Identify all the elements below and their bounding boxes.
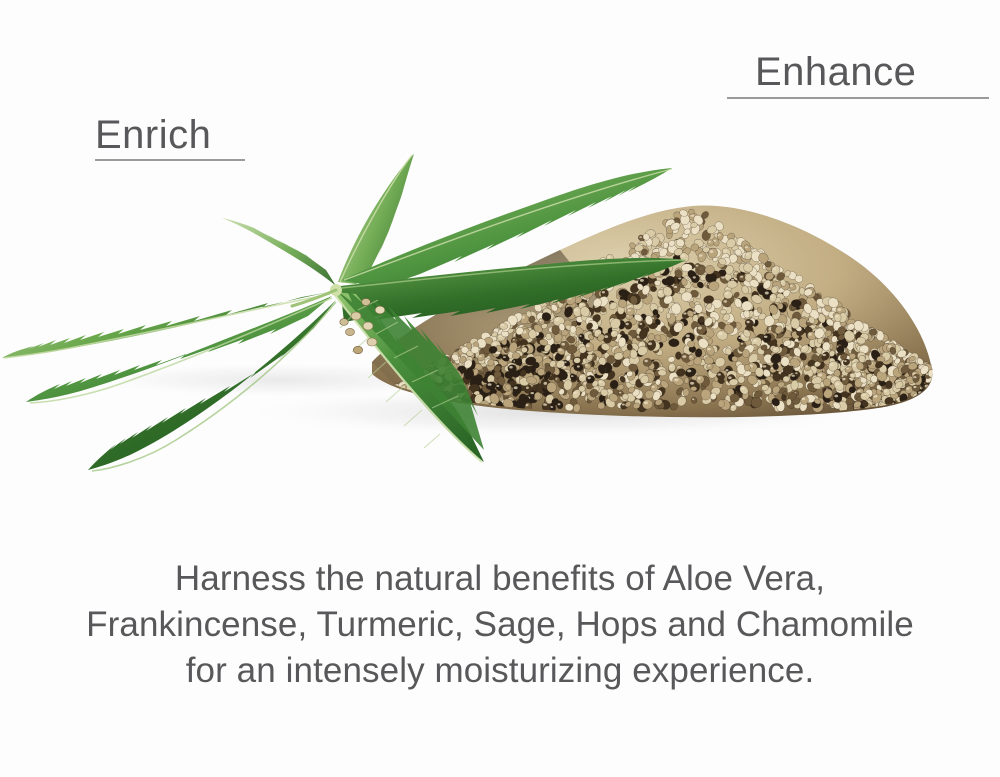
caption-line-1: Harness the natural benefits of Aloe Ver… (0, 556, 1000, 602)
hemp-seed-highlight (509, 366, 512, 369)
hemp-seed-highlight (580, 376, 583, 378)
heading-enrich: Enrich (95, 115, 211, 155)
hemp-seed (929, 403, 935, 409)
hemp-seed (919, 393, 933, 407)
hemp-seed (781, 357, 790, 367)
hemp-seed (813, 383, 821, 389)
hemp-seed-highlight (571, 375, 574, 377)
hemp-seed (924, 404, 931, 410)
hemp-seed-highlight (644, 401, 648, 404)
hemp-seed-highlight (670, 374, 674, 377)
hemp-seed (795, 275, 803, 282)
hemp-seed-highlight (681, 254, 685, 257)
hemp-seed-highlight (682, 355, 686, 358)
hemp-seed-highlight (851, 374, 853, 376)
hemp-seed-highlight (830, 312, 833, 314)
hemp-seed-highlight (498, 335, 501, 337)
hemp-seed-highlight (823, 344, 826, 347)
hemp-seed-highlight (723, 250, 727, 253)
hemp-seed-highlight (667, 221, 671, 224)
hemp-seed-highlight (830, 363, 834, 366)
hemp-seed (908, 400, 915, 408)
hemp-seed-highlight (675, 324, 679, 327)
caption-line-3: for an intensely moisturizing experience… (0, 648, 1000, 694)
hemp-illustration (0, 150, 1000, 530)
hemp-seed (929, 400, 938, 409)
hemp-seed-highlight (862, 394, 865, 396)
hemp-seed-highlight (560, 390, 562, 392)
hemp-seed-highlight (809, 333, 812, 336)
hemp-seed-highlight (728, 376, 732, 379)
hemp-seed-highlight (674, 286, 678, 288)
hemp-seed-highlight (687, 370, 691, 373)
hemp-seed (652, 309, 658, 316)
hemp-seed-highlight (626, 323, 629, 325)
hemp-seed-highlight (653, 393, 657, 395)
hemp-seed-highlight (492, 342, 496, 345)
hemp-seed-highlight (595, 331, 598, 333)
hemp-seed (499, 323, 508, 330)
hemp-seed (574, 357, 581, 363)
hemp-seed (920, 392, 933, 403)
hemp-seed-highlight (763, 365, 767, 367)
hemp-seed-highlight (741, 388, 745, 390)
hemp-seed-highlight (665, 297, 669, 300)
hemp-seed (557, 402, 563, 409)
hemp-seed (925, 398, 938, 410)
hemp-seed-highlight (708, 241, 711, 243)
hemp-seed (915, 397, 923, 404)
hemp-seed-highlight (844, 360, 847, 362)
hemp-seed-highlight (619, 340, 623, 342)
hemp-seed-highlight (696, 265, 699, 267)
hemp-seed-highlight (558, 349, 561, 351)
hemp-seed (707, 240, 714, 247)
hemp-seed-highlight (754, 311, 757, 313)
hemp-seed-highlight (740, 276, 743, 278)
hemp-seed (668, 363, 675, 372)
hemp-seed-highlight (795, 372, 797, 374)
hemp-seed-highlight (690, 215, 694, 217)
hemp-seed (850, 373, 856, 378)
hemp-seed (905, 401, 917, 412)
hemp-seed-highlight (772, 268, 776, 271)
hemp-seed-highlight (660, 250, 664, 252)
hemp-seed-highlight (640, 279, 644, 282)
hemp-seed-highlight (834, 395, 838, 398)
hemp-seed-highlight (638, 285, 641, 287)
hemp-seed-highlight (818, 309, 820, 311)
hemp-seed-highlight (559, 325, 562, 327)
hemp-seed-highlight (693, 276, 696, 278)
hemp-seed (917, 396, 926, 403)
hemp-seed-highlight (648, 342, 652, 345)
hemp-seed-highlight (838, 308, 842, 311)
hemp-seed (668, 339, 679, 347)
hemp-seed-highlight (842, 378, 845, 380)
hemp-seed-highlight (555, 318, 559, 321)
hemp-seed (512, 352, 520, 359)
hemp-seed-highlight (685, 230, 688, 232)
hemp-seed-highlight (855, 323, 859, 326)
hemp-seed-highlight (567, 405, 570, 407)
hemp-seed (919, 399, 929, 408)
hemp-seed-highlight (802, 398, 805, 400)
hemp-seed-highlight (544, 382, 548, 385)
hemp-seed-highlight (894, 405, 898, 408)
hemp-seed (901, 402, 912, 412)
hemp-seed (928, 391, 938, 399)
hemp-seed-highlight (835, 383, 839, 386)
hemp-seed-highlight (488, 383, 492, 386)
hemp-seed-highlight (710, 250, 714, 253)
hemp-seed-highlight (571, 327, 574, 329)
hemp-seed-highlight (585, 364, 588, 366)
hemp-seed-highlight (895, 359, 897, 361)
hemp-seed-highlight (906, 387, 909, 389)
hemp-seed-highlight (699, 254, 703, 257)
hemp-seed-highlight (746, 253, 749, 255)
hemp-seed (842, 376, 849, 385)
hemp-seed (777, 303, 783, 310)
hemp-seed-highlight (924, 392, 928, 395)
hemp-seed-highlight (718, 234, 721, 236)
hemp-seed-highlight (735, 301, 739, 303)
caption-line-2: Frankincense, Turmeric, Sage, Hops and C… (0, 602, 1000, 648)
hemp-seed-highlight (558, 403, 561, 405)
hemp-seed-highlight (561, 343, 565, 346)
hemp-seed-highlight (690, 382, 694, 385)
hemp-seed-highlight (726, 287, 729, 289)
hemp-seed-highlight (593, 370, 595, 371)
hemp-seed-highlight (913, 376, 916, 378)
hemp-seed-highlight (622, 404, 625, 406)
hemp-seed-highlight (588, 377, 591, 379)
hemp-seed-highlight (639, 323, 642, 325)
hemp-seed-highlight (678, 366, 680, 368)
hemp-seed-highlight (764, 336, 768, 338)
hemp-seed-highlight (818, 374, 822, 377)
hemp-seed (643, 358, 652, 366)
hemp-seed-highlight (674, 379, 678, 382)
hemp-seed-highlight (832, 308, 835, 310)
promo-graphic-canvas: Enrich Enhance (0, 0, 1000, 777)
hemp-seed-highlight (639, 236, 642, 238)
heading-enhance-underline (727, 97, 989, 99)
hemp-seed-highlight (577, 365, 580, 367)
hemp-seed-highlight (805, 366, 808, 368)
hemp-seed-highlight (822, 354, 826, 356)
hemp-seed (622, 394, 628, 400)
hemp-seed-highlight (785, 341, 788, 343)
hemp-seed-highlight (573, 392, 577, 394)
hemp-seed (675, 352, 681, 360)
hemp-seed-highlight (731, 406, 734, 408)
hemp-seed-highlight (707, 348, 711, 350)
hemp-seed-highlight (834, 323, 838, 326)
hemp-seed-highlight (753, 339, 757, 342)
hemp-seed-highlight (765, 292, 769, 295)
hemp-seed-highlight (857, 390, 860, 392)
hemp-seed-highlight (644, 235, 647, 237)
hemp-seed-highlight (916, 399, 919, 401)
hemp-seed-highlight (514, 386, 518, 389)
hemp-seed-highlight (899, 351, 902, 353)
hemp-seed-highlight (746, 321, 749, 323)
hemp-seed-highlight (718, 332, 722, 335)
hemp-seed-highlight (692, 398, 694, 400)
hemp-seed-highlight (645, 360, 648, 363)
hemp-seed-highlight (861, 378, 864, 380)
hemp-seed-highlight (555, 378, 557, 380)
hemp-seed-highlight (651, 386, 654, 388)
hemp-seed-highlight (884, 390, 887, 392)
hemp-seed-highlight (718, 373, 721, 375)
hemp-seed-highlight (734, 273, 737, 275)
hemp-seed-highlight (770, 296, 773, 298)
hemp-seed-highlight (501, 324, 504, 326)
hemp-seed-highlight (658, 291, 661, 294)
hemp-seed-highlight (888, 345, 892, 348)
hemp-seed (859, 355, 866, 363)
hemp-seed-highlight (773, 348, 776, 350)
hemp-seed-highlight (689, 356, 691, 358)
hemp-seed-highlight (579, 335, 582, 337)
hemp-seed (466, 342, 472, 349)
hemp-seed-highlight (486, 397, 489, 399)
hemp-seed-highlight (698, 327, 702, 330)
hemp-seed (720, 309, 727, 314)
hemp-seed-highlight (504, 348, 507, 350)
hemp-seed (687, 340, 695, 347)
hemp-seed-highlight (496, 385, 499, 387)
hemp-seed (927, 387, 933, 393)
hemp-seed (654, 280, 661, 286)
hemp-seed-highlight (781, 281, 784, 283)
hemp-seed-highlight (849, 325, 852, 327)
hemp-seed-highlight (708, 365, 711, 367)
hemp-seed-highlight (854, 331, 856, 332)
hemp-seed (885, 381, 892, 389)
hemp-seed-highlight (602, 291, 605, 293)
hemp-seed (926, 400, 940, 414)
hemp-seed-highlight (903, 405, 906, 407)
hemp-seed-highlight (580, 303, 583, 305)
hemp-seed (921, 400, 931, 410)
hemp-seed (742, 349, 749, 358)
hemp-seed-highlight (681, 217, 685, 220)
hemp-seed-highlight (628, 309, 631, 311)
hemp-seed-highlight (790, 285, 793, 287)
hemp-seed (922, 391, 934, 403)
hemp-seed (666, 313, 671, 319)
hemp-seed (930, 404, 937, 412)
hemp-seed-highlight (607, 256, 610, 258)
hemp-seed-highlight (918, 395, 922, 398)
hemp-seed (723, 290, 732, 299)
hemp-seed-highlight (725, 292, 728, 295)
hemp-seed-highlight (624, 360, 627, 363)
hemp-seed (683, 388, 689, 396)
hemp-seed-highlight (805, 290, 808, 292)
hemp-seed (570, 326, 576, 334)
hemp-leaf-and-seeds-photo (0, 150, 1000, 530)
hemp-seed (701, 389, 711, 400)
hemp-seed (870, 375, 878, 383)
hemp-seed-highlight (835, 315, 838, 317)
heading-enhance: Enhance (755, 52, 916, 92)
hemp-seed (869, 329, 877, 336)
hemp-seed (504, 346, 509, 353)
hemp-seed (624, 321, 632, 329)
hemp-seed (783, 376, 790, 382)
hemp-seed-highlight (741, 343, 744, 345)
hemp-seed-highlight (503, 356, 506, 358)
hemp-seed-highlight (724, 300, 728, 303)
hemp-seed-highlight (925, 402, 928, 404)
hemp-seed-highlight (540, 320, 542, 322)
hemp-seed-highlight (737, 362, 740, 364)
hemp-seed (922, 399, 932, 409)
leaflet-upper-left (222, 218, 336, 286)
hemp-seed (928, 398, 935, 404)
hemp-seed (658, 369, 667, 376)
hemp-seed-highlight (639, 343, 642, 345)
hemp-seed-highlight (479, 355, 482, 357)
hemp-seed (923, 392, 934, 404)
hemp-seed-highlight (686, 334, 690, 337)
hemp-seed-highlight (574, 309, 578, 312)
hemp-seed-highlight (664, 244, 666, 246)
hemp-seed-highlight (586, 344, 590, 347)
hemp-seed (920, 401, 932, 413)
hemp-seed-highlight (599, 381, 602, 383)
hemp-seed-highlight (635, 316, 638, 318)
hemp-seed-highlight (530, 392, 534, 394)
hemp-seed-highlight (669, 365, 672, 367)
hemp-seed (650, 286, 657, 292)
hemp-seed-highlight (846, 368, 849, 370)
hemp-seed-highlight (766, 318, 770, 321)
hemp-seed (718, 400, 725, 408)
hemp-seed-highlight (619, 392, 622, 394)
hemp-seed-highlight (697, 377, 700, 380)
hemp-seed-highlight (745, 246, 748, 248)
hemp-seed (911, 397, 924, 410)
hemp-seed-highlight (737, 239, 741, 241)
hemp-seed-highlight (832, 378, 836, 381)
hemp-seed (691, 386, 697, 391)
hemp-seed-highlight (802, 347, 806, 349)
hemp-seed-highlight (815, 362, 818, 364)
hemp-seed-highlight (513, 339, 515, 341)
hemp-seed-highlight (683, 312, 686, 314)
hemp-seed-highlight (913, 386, 916, 388)
hemp-seed-highlight (612, 332, 615, 334)
caption-text-block: Harness the natural benefits of Aloe Ver… (0, 556, 1000, 695)
hemp-seed (920, 401, 927, 409)
